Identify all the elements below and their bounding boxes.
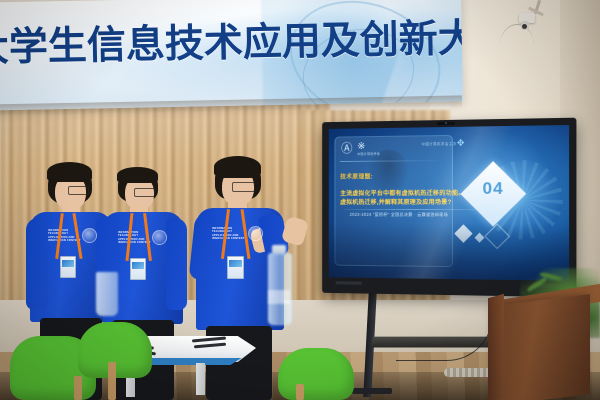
glasses-right-presenter [232, 182, 255, 192]
glasses-middle-presenter [134, 188, 155, 197]
paper-cup [96, 272, 118, 316]
wooden-podium [494, 294, 590, 400]
organizer-logo-icon: Ⓐ [340, 141, 353, 155]
badge-right [227, 256, 244, 279]
presentation-scene: 大学生信息技术应用及创新大赛 Ⓐ ※ 中国计算机学会 中国计算机学会主办 ✥ 技… [0, 0, 600, 400]
podium-front-edge [488, 294, 504, 400]
camera-lens [522, 24, 527, 29]
chair-right-leg [296, 384, 304, 400]
chair-left-leg [74, 376, 82, 400]
slide-mark-icon: ✥ [457, 139, 470, 148]
shirt-emblem-icon [82, 228, 97, 243]
display-screen[interactable]: Ⓐ ※ 中国计算机学会 中国计算机学会主办 ✥ 技术原理题: 主流虚拟化平台中都… [329, 125, 569, 281]
glasses-left-presenter [68, 186, 89, 195]
logo-caption: 中国计算机学会 [357, 152, 396, 156]
presenter-right-shirt-text: INFORMATION TECHNOLOGY APPLICATION AND I… [212, 227, 246, 241]
banner-title: 大学生信息技术应用及创新大赛 [0, 18, 450, 71]
shirt-emblem-icon [248, 226, 263, 241]
badge-left [60, 256, 76, 278]
slide-section-label: 技术原理题: [340, 172, 373, 181]
water-bottle [268, 253, 292, 325]
display-led-indicator [335, 281, 362, 284]
display-stand-foot [352, 388, 392, 394]
shirt-emblem-icon [152, 230, 167, 245]
chair-center-leg [108, 362, 116, 400]
slide-footer-text: 2023-2024 "蓝桥杯" 全国总决赛 · 云赛道答辩现场 [350, 211, 487, 218]
badge-middle [130, 258, 146, 280]
slide-number-value: 04 [470, 179, 517, 199]
bottle-label [268, 290, 290, 304]
slide-top-right-caption: 中国计算机学会主办 [392, 141, 457, 147]
chair-right[interactable] [278, 348, 354, 400]
slide-footer-divider [344, 209, 491, 210]
event-banner: 大学生信息技术应用及创新大赛 [0, 0, 463, 111]
